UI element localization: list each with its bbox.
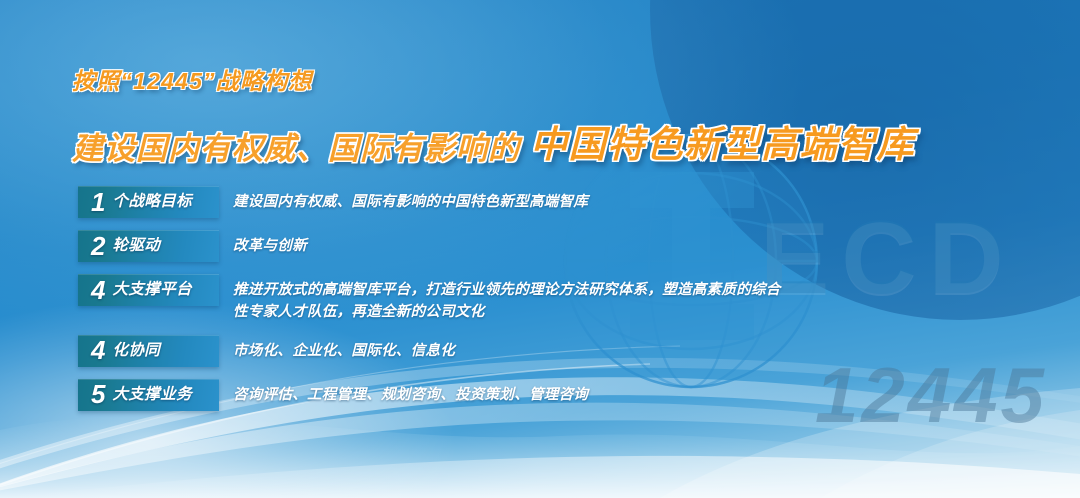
strategy-chip-label: 大支撑平台 xyxy=(112,281,192,299)
strategy-chip-number: 2 xyxy=(91,233,105,259)
strategy-chip-number: 5 xyxy=(91,381,105,407)
strategy-chip-label: 轮驱动 xyxy=(112,237,160,255)
strategy-chip-label: 化协同 xyxy=(112,342,160,360)
strategy-row: 4 大支撑平台 推进开放式的高端智库平台，打造行业领先的理论方法研究体系，塑造高… xyxy=(78,274,1038,324)
strategy-description: 改革与创新 xyxy=(233,230,307,257)
strategy-row: 2 轮驱动 改革与创新 xyxy=(78,230,1038,262)
strategy-chip: 4 大支撑平台 xyxy=(78,274,219,306)
strategy-row: 5 大支撑业务 咨询评估、工程管理、规划咨询、投资策划、管理咨询 xyxy=(78,379,1038,411)
strategy-description: 推进开放式的高端智库平台，打造行业领先的理论方法研究体系，塑造高素质的综合性专家… xyxy=(233,274,781,324)
strategy-chip-number: 4 xyxy=(91,277,105,303)
strategy-chip: 5 大支撑业务 xyxy=(78,379,219,411)
strategy-chip-label: 个战略目标 xyxy=(112,193,192,211)
strategy-rows-list: 1 个战略目标 建设国内有权威、国际有影响的中国特色新型高端智库 2 轮驱动 改… xyxy=(78,186,1038,423)
strategy-description: 咨询评估、工程管理、规划咨询、投资策划、管理咨询 xyxy=(233,379,588,406)
headline-kicker: 按照“12445”战略构想 xyxy=(72,62,915,96)
strategy-description: 市场化、企业化、国际化、信息化 xyxy=(233,335,455,362)
headline-main-part-a: 建设国内有权威、国际有影响的 xyxy=(72,123,520,168)
strategy-chip: 1 个战略目标 xyxy=(78,186,219,218)
strategy-chip: 2 轮驱动 xyxy=(78,230,219,262)
headline-block: 按照“12445”战略构想 建设国内有权威、国际有影响的 中国特色新型高端智库 xyxy=(72,62,915,168)
strategy-row: 1 个战略目标 建设国内有权威、国际有影响的中国特色新型高端智库 xyxy=(78,186,1038,218)
headline-main: 建设国内有权威、国际有影响的 中国特色新型高端智库 xyxy=(72,114,915,168)
slide-canvas: ECD 12445 按照“12445”战略构想 建设国内有权威、国际有影响的 中… xyxy=(0,0,1080,498)
strategy-description: 建设国内有权威、国际有影响的中国特色新型高端智库 xyxy=(233,186,588,213)
headline-main-part-b: 中国特色新型高端智库 xyxy=(530,114,915,168)
strategy-chip: 4 化协同 xyxy=(78,335,219,367)
strategy-chip-number: 4 xyxy=(91,337,105,363)
strategy-row: 4 化协同 市场化、企业化、国际化、信息化 xyxy=(78,335,1038,367)
strategy-chip-number: 1 xyxy=(91,189,105,215)
strategy-chip-label: 大支撑业务 xyxy=(112,386,192,404)
